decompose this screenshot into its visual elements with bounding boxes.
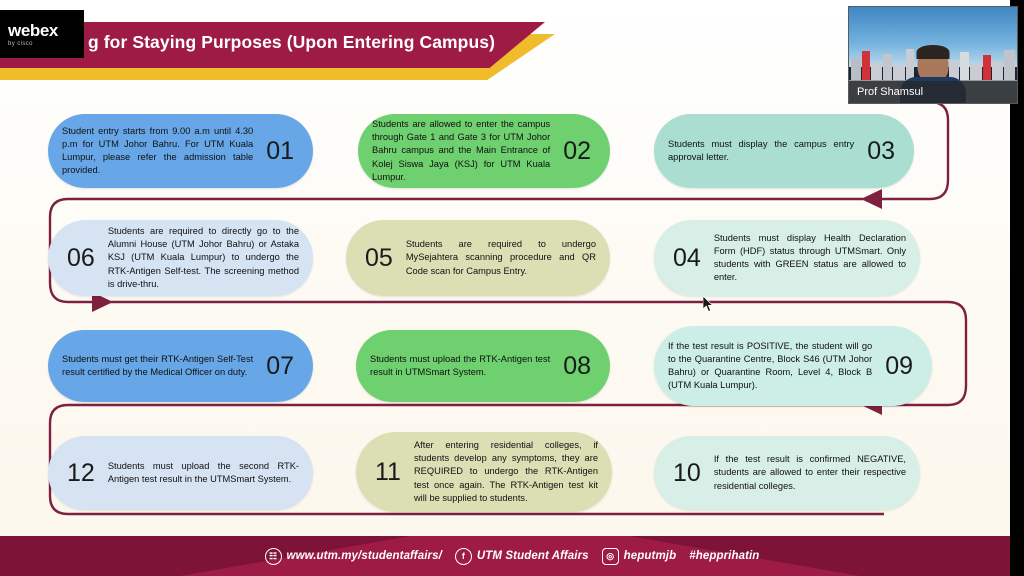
footer-instagram-label: heputmjb xyxy=(624,550,677,562)
globe-icon: ☷ xyxy=(265,548,282,565)
card-text: Students must get their RTK-Antigen Self… xyxy=(58,353,257,379)
footer-hashtag-label: #hepprihatin xyxy=(689,550,759,562)
slide-footer: ☷ www.utm.my/studentaffairs/ f UTM Stude… xyxy=(0,536,1024,576)
card-number: 03 xyxy=(858,137,904,166)
webex-byline: by cisco xyxy=(8,41,84,47)
arrowhead-left-row2 xyxy=(861,189,882,209)
card-text: Students must display the campus entry a… xyxy=(664,138,858,164)
card-number: 04 xyxy=(664,244,710,273)
card-text: Students must display Health Declaration… xyxy=(710,232,910,285)
webex-logo: webex by cisco xyxy=(0,10,84,58)
facebook-icon: f xyxy=(455,548,472,565)
card-text: If the test result is confirmed NEGATIVE… xyxy=(710,453,910,493)
slide-title: g for Staying Purposes (Upon Entering Ca… xyxy=(88,32,558,60)
flow-card-08[interactable]: 08 Students must upload the RTK-Antigen … xyxy=(356,330,610,402)
footer-website[interactable]: ☷ www.utm.my/studentaffairs/ xyxy=(265,548,442,565)
card-number: 10 xyxy=(664,459,710,488)
flow-card-12[interactable]: 12 Students must upload the second RTK-A… xyxy=(48,436,313,510)
card-number: 09 xyxy=(876,352,922,381)
webex-meeting-window: g for Staying Purposes (Upon Entering Ca… xyxy=(0,0,1024,576)
flow-card-07[interactable]: 07 Students must get their RTK-Antigen S… xyxy=(48,330,313,402)
card-number: 12 xyxy=(58,459,104,488)
webex-wordmark: webex xyxy=(8,22,84,39)
footer-facebook[interactable]: f UTM Student Affairs xyxy=(455,548,589,565)
card-text: Students are required to directly go to … xyxy=(104,225,303,291)
flow-card-05[interactable]: 05 Students are required to undergo MySe… xyxy=(346,220,610,296)
card-number: 01 xyxy=(257,137,303,166)
process-flow-diagram: 01 Student entry starts from 9.00 a.m un… xyxy=(0,96,1024,536)
participant-video-tile[interactable]: Prof Shamsul xyxy=(848,6,1018,104)
card-number: 05 xyxy=(356,244,402,273)
card-text: After entering residential colleges, if … xyxy=(410,439,602,505)
footer-website-label: www.utm.my/studentaffairs/ xyxy=(287,550,442,562)
footer-instagram[interactable]: ◎ heputmjb xyxy=(602,548,677,565)
card-number: 11 xyxy=(366,458,410,487)
card-number: 02 xyxy=(554,137,600,166)
card-text: Student entry starts from 9.00 a.m until… xyxy=(58,125,257,178)
card-text: Students must upload the second RTK-Anti… xyxy=(104,460,303,486)
mouse-cursor xyxy=(703,296,714,312)
card-number: 08 xyxy=(554,352,600,381)
card-number: 07 xyxy=(257,352,303,381)
flow-card-01[interactable]: 01 Student entry starts from 9.00 a.m un… xyxy=(48,114,313,188)
instagram-icon: ◎ xyxy=(602,548,619,565)
footer-hashtag: #hepprihatin xyxy=(689,550,759,562)
flow-card-03[interactable]: 03 Students must display the campus entr… xyxy=(654,114,914,188)
flow-card-02[interactable]: 02 Students are allowed to enter the cam… xyxy=(358,114,610,188)
flow-card-04[interactable]: 04 Students must display Health Declarat… xyxy=(654,220,920,296)
card-text: If the test result is POSITIVE, the stud… xyxy=(664,340,876,393)
flow-card-11[interactable]: 11 After entering residential colleges, … xyxy=(356,432,612,512)
card-text: Students are required to undergo MySejah… xyxy=(402,238,600,278)
flow-card-10[interactable]: 10 If the test result is confirmed NEGAT… xyxy=(654,436,920,510)
card-number: 06 xyxy=(58,244,104,273)
flow-card-09[interactable]: 09 If the test result is POSITIVE, the s… xyxy=(654,326,932,406)
participant-name-label: Prof Shamsul xyxy=(849,81,1017,103)
flow-card-06[interactable]: 06 Students are required to directly go … xyxy=(48,220,313,296)
footer-facebook-label: UTM Student Affairs xyxy=(477,550,589,562)
card-text: Students are allowed to enter the campus… xyxy=(368,118,554,184)
card-text: Students must upload the RTK-Antigen tes… xyxy=(366,353,554,379)
